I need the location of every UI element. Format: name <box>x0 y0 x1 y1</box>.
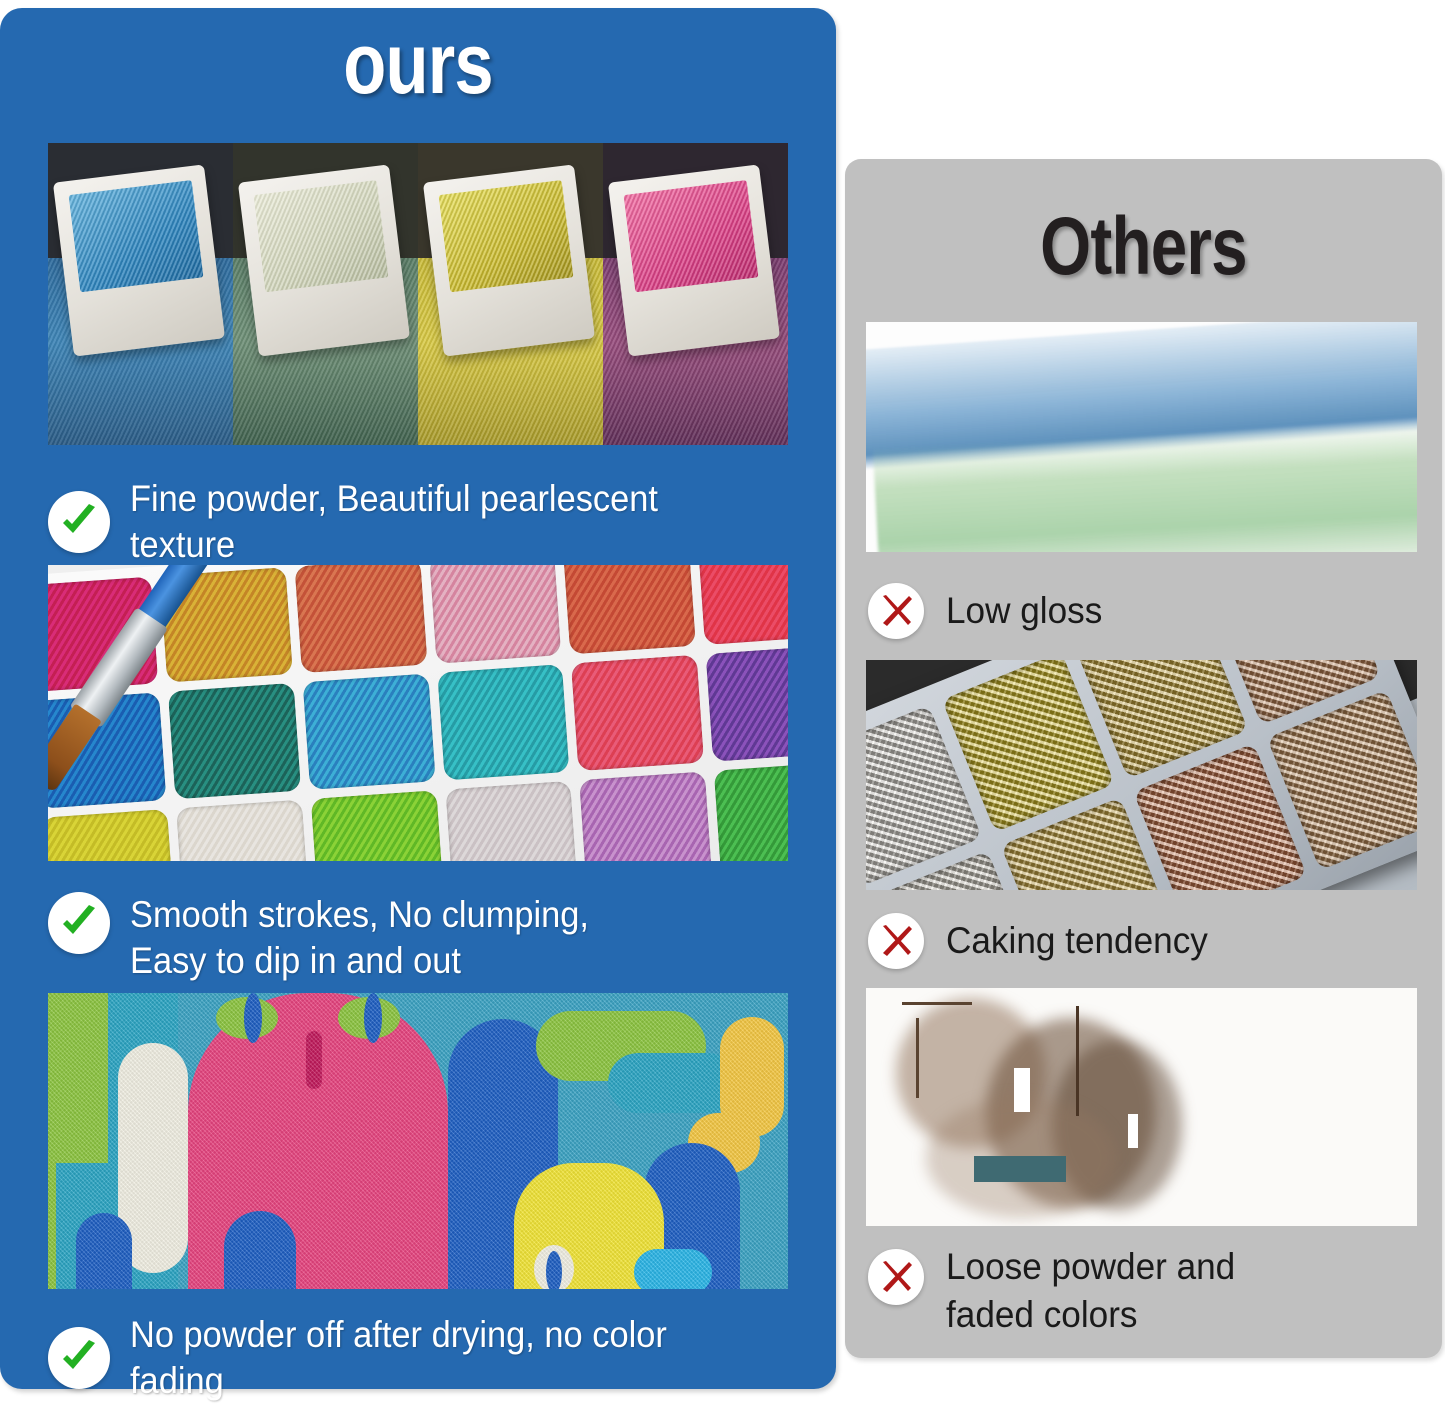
art-shape <box>364 993 382 1043</box>
pan-box <box>238 165 410 357</box>
palette-pan <box>176 799 309 861</box>
feature-row-1: Fine powder, Beautiful pearlescent textu… <box>48 476 808 568</box>
feature-row-2: Smooth strokes, No clumping, Easy to dip… <box>48 892 808 984</box>
pan-column-silver <box>233 143 418 445</box>
feature-row-3: No powder off after drying, no color fad… <box>48 1312 808 1404</box>
palette-pan <box>714 762 788 861</box>
art-shape <box>306 1031 322 1089</box>
con-label-2: Caking tendency <box>946 917 1208 965</box>
palette-pan <box>302 674 435 790</box>
palette-pan <box>445 780 578 861</box>
pan-fill <box>68 180 203 293</box>
palette-pan <box>437 664 570 780</box>
palette-pan <box>571 655 704 771</box>
matte-wash-photo <box>866 322 1417 552</box>
ink-line <box>974 1156 1066 1182</box>
palette-pan <box>310 790 443 861</box>
ink-line <box>1128 1114 1138 1148</box>
pan-column-pink <box>603 143 788 445</box>
art-shape <box>244 993 262 1043</box>
ink-line <box>1014 1068 1030 1112</box>
pan-box <box>608 165 780 357</box>
ours-title: ours <box>75 14 761 114</box>
con-row-1: Low gloss <box>868 583 1408 639</box>
feature-label-1: Fine powder, Beautiful pearlescent textu… <box>130 476 761 568</box>
others-title: Others <box>905 199 1383 295</box>
palette-pan <box>429 565 562 664</box>
check-icon <box>48 892 110 954</box>
con-row-3: Loose powder and faded colors <box>868 1243 1408 1339</box>
cross-icon <box>868 1249 924 1305</box>
pan-fill <box>623 180 758 293</box>
ink-line <box>902 1002 972 1005</box>
metallic-pans-photo <box>48 143 788 445</box>
caked-tray <box>866 660 1417 890</box>
palette-pan <box>168 683 301 799</box>
art-shape <box>224 1211 296 1289</box>
feature-label-3: No powder off after drying, no color fad… <box>130 1312 761 1404</box>
palette-pan <box>579 771 712 861</box>
art-shape <box>608 1053 738 1113</box>
art-shape <box>76 1213 132 1289</box>
feature-label-2: Smooth strokes, No clumping, Easy to dip… <box>130 892 589 984</box>
con-row-2: Caking tendency <box>868 913 1408 969</box>
faded-ink-photo <box>866 988 1417 1226</box>
art-shape <box>546 1251 562 1289</box>
caked-pans-photo <box>866 660 1417 890</box>
check-icon <box>48 1327 110 1389</box>
palette-pan <box>698 565 788 645</box>
check-icon <box>48 491 110 553</box>
pan-column-gold <box>418 143 603 445</box>
con-label-3: Loose powder and faded colors <box>946 1243 1235 1339</box>
pan-box <box>53 165 225 357</box>
cross-icon <box>868 913 924 969</box>
folk-art-photo <box>48 993 788 1289</box>
art-shape <box>634 1249 712 1289</box>
pan-box <box>423 165 595 357</box>
pan-fill <box>253 180 388 293</box>
palette-pan <box>563 565 696 655</box>
pan-fill <box>438 180 573 293</box>
palette-pan <box>706 646 788 762</box>
palette-pan <box>48 809 174 861</box>
con-label-1: Low gloss <box>946 587 1102 635</box>
pan-column-blue <box>48 143 233 445</box>
ink-line <box>916 1018 919 1098</box>
ink-line <box>1076 1006 1079 1116</box>
palette-photo <box>48 565 788 861</box>
ours-panel: ours Fine powder, Beau <box>0 8 836 1389</box>
palette-pan <box>294 565 427 674</box>
cross-icon <box>868 583 924 639</box>
